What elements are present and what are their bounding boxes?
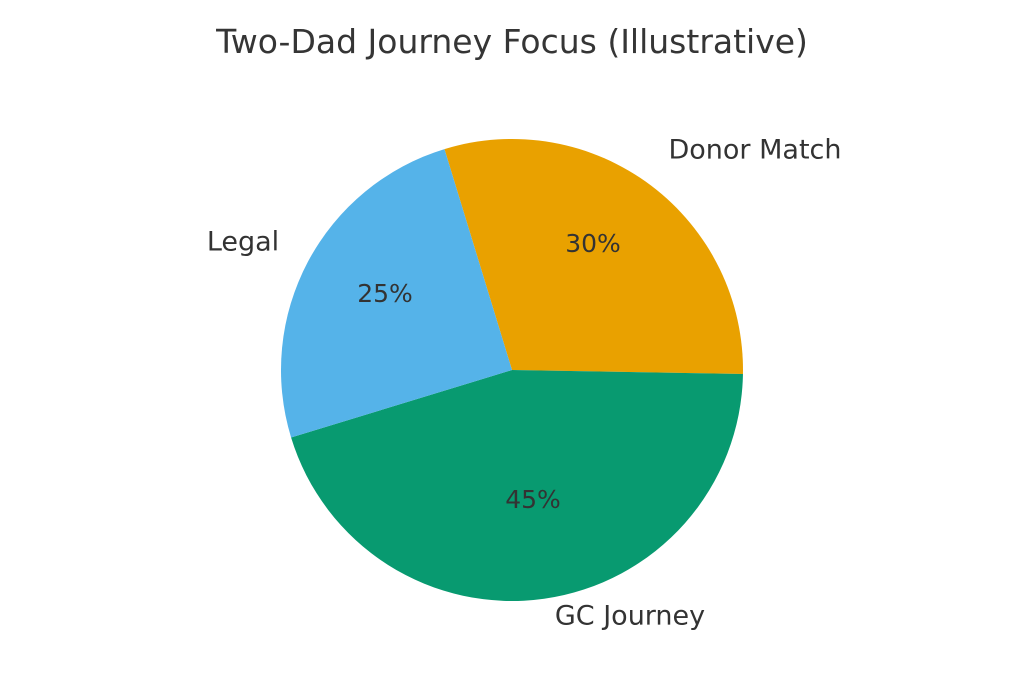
pie-percent-label-donor-match: 30% xyxy=(565,229,621,258)
pie-category-label-gc-journey: GC Journey xyxy=(555,601,705,632)
pie-category-label-legal: Legal xyxy=(207,227,279,258)
pie-slices xyxy=(281,139,743,601)
chart-figure: Two-Dad Journey Focus (Illustrative) 30%… xyxy=(0,0,1024,683)
pie-percent-label-legal: 25% xyxy=(357,279,413,308)
pie-percent-label-gc-journey: 45% xyxy=(505,485,561,514)
pie-chart: 30%45%25% Donor MatchGC JourneyLegal xyxy=(0,0,1024,683)
pie-category-label-donor-match: Donor Match xyxy=(668,135,841,166)
